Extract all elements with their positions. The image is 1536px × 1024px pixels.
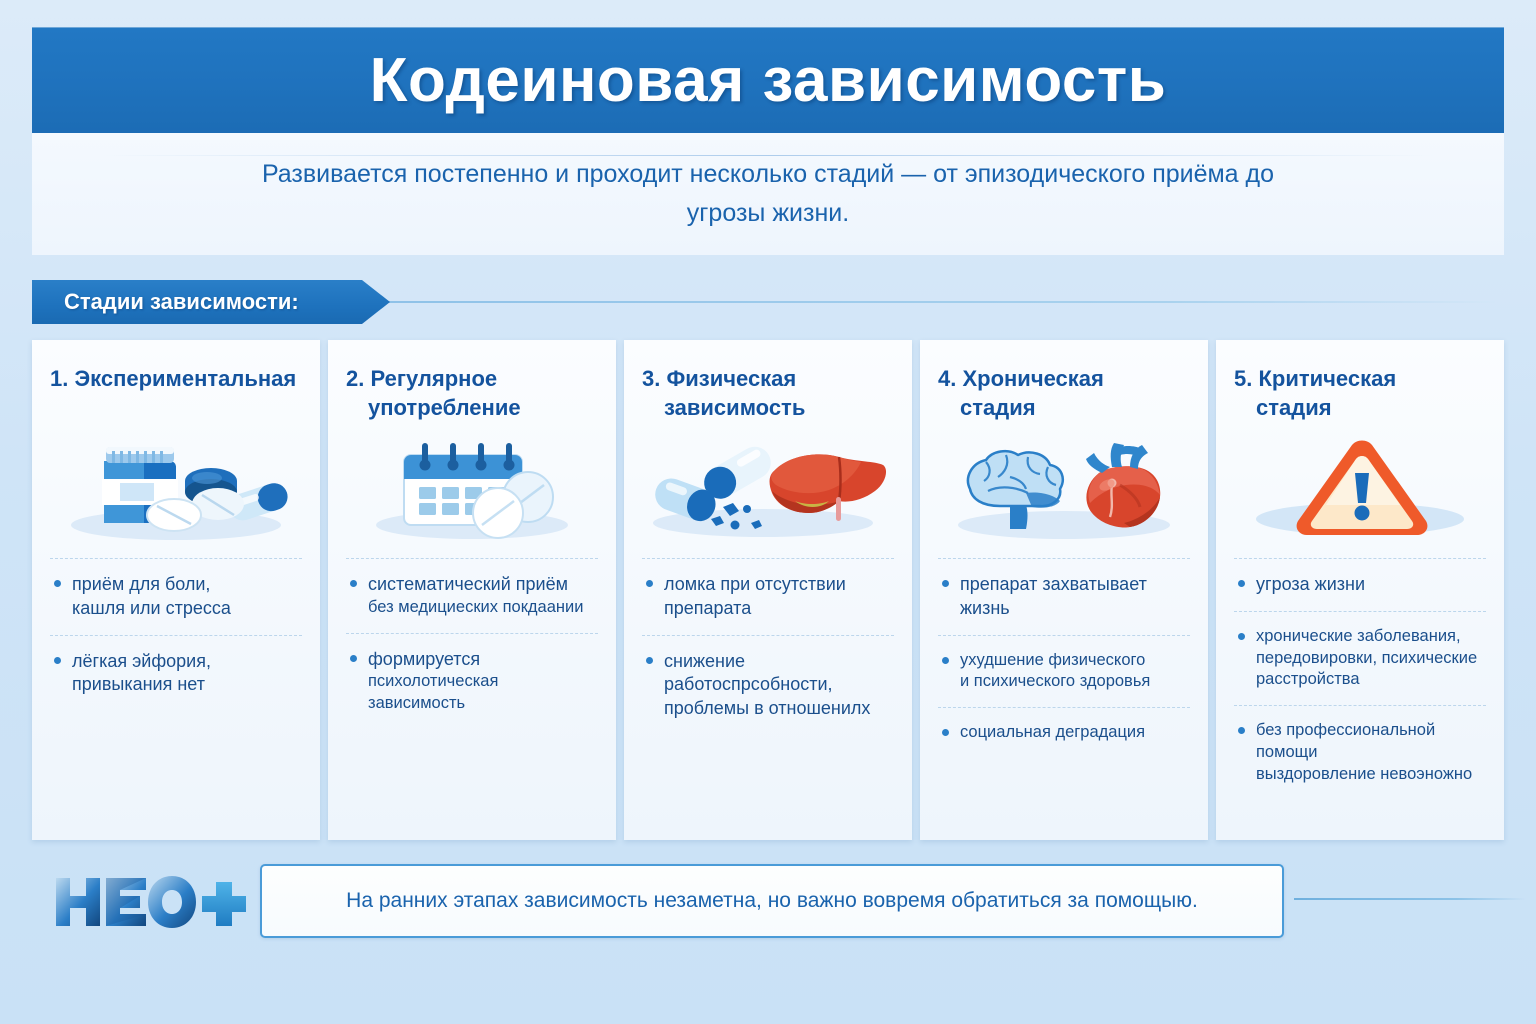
footer: На ранних этапах зависимость незаметна, … (32, 852, 1504, 960)
bullet-item: угроза жизни (1234, 558, 1486, 611)
bullet-sub: жизнь (960, 597, 1188, 621)
page-subtitle: Развивается постепенно и проходит нескол… (228, 155, 1308, 234)
bullet-sub: психолотическая зависимость (368, 671, 596, 715)
stage-card-5-bullets: угроза жизни хронические заболевания, пе… (1234, 558, 1486, 799)
stage-card-5-title: 5. Критическая стадия (1234, 364, 1486, 426)
footer-note-text: На ранних этапах зависимость незаметна, … (324, 889, 1220, 913)
bullet-main: приём для боли, (72, 573, 300, 597)
stage-card-3-bullets: ломка при отсутствии препарата снижение … (642, 558, 894, 735)
title-bar: Кодеиновая зависимость (32, 27, 1504, 133)
stage-card-3-title-line2: зависимость (642, 393, 894, 422)
bullet-item: лёгкая эйфория, привыкания нет (50, 635, 302, 712)
pill-bottle-icon (50, 432, 302, 544)
bullet-sub: без медициеских покдаании (368, 597, 596, 619)
stage-card-4-title: 4. Хроническая стадия (938, 364, 1190, 426)
stage-card-4-title-line2: стадия (938, 393, 1190, 422)
stage-card-3[interactable]: 3. Физическая зависимость (624, 340, 912, 840)
stage-card-4[interactable]: 4. Хроническая стадия (920, 340, 1208, 840)
stage-card-1[interactable]: 1. Экспериментальная (32, 340, 320, 840)
bullet-sub: кашля или стресса (72, 597, 300, 621)
stage-card-2-title: 2. Регулярное употребление (346, 364, 598, 426)
stage-card-5-title-line1: 5. Критическая (1234, 366, 1396, 391)
subtitle-panel: Развивается постепенно и проходит нескол… (32, 133, 1504, 255)
infographic-page: Кодеиновая зависимость Развивается посте… (0, 0, 1536, 1024)
stage-card-2[interactable]: 2. Регулярное употребление (328, 340, 616, 840)
stage-card-4-title-line1: 4. Хроническая (938, 366, 1104, 391)
bullet-main: угроза жизни (1256, 573, 1484, 597)
bullet-sub: передовировки, психические расстройства (1256, 648, 1484, 692)
bullet-sub: работоспрсобности, проблемы в отношенилх (664, 673, 892, 721)
section-banner-chevron: Стадии зависимости: (32, 280, 390, 324)
stage-card-2-title-line2: употребление (346, 393, 598, 422)
stage-card-4-bullets: препарат захватывает жизнь ухудшение физ… (938, 558, 1190, 758)
footer-note-box: На ранних этапах зависимость незаметна, … (260, 864, 1284, 938)
stage-card-5[interactable]: 5. Критическая стадия угроза жизни (1216, 340, 1504, 840)
bullet-main: ухудшение физического (960, 650, 1188, 672)
bullet-main: хронические заболевания, (1256, 626, 1484, 648)
capsule-liver-icon (642, 432, 894, 544)
stage-card-1-title-line1: 1. Экспериментальная (50, 366, 296, 391)
stage-card-2-bullets: систематический приём без медициеских по… (346, 558, 598, 729)
stage-cards: 1. Экспериментальная (32, 340, 1504, 840)
calendar-pills-icon (346, 432, 598, 544)
neo-plus-logo[interactable] (50, 870, 250, 932)
bullet-main: лёгкая эйфория, (72, 650, 300, 674)
section-banner-label: Стадии зависимости: (32, 289, 299, 315)
bullet-main: социальная деградация (960, 722, 1188, 744)
bullet-main: формируется (368, 648, 596, 672)
bullet-main: ломка при отсутствии (664, 573, 892, 597)
bullet-sub: и психического здоровья (960, 671, 1188, 693)
bullet-item: систематический приём без медициеских по… (346, 558, 598, 633)
bullet-sub: привыкания нет (72, 673, 300, 697)
stage-card-1-bullets: приём для боли, кашля или стресса лёгкая… (50, 558, 302, 711)
bullet-item: снижение работоспрсобности, проблемы в о… (642, 635, 894, 735)
bullet-item: формируется психолотическая зависимость (346, 633, 598, 729)
bullet-item: ухудшение физического и психического здо… (938, 635, 1190, 708)
brain-heart-icon (938, 432, 1190, 544)
page-title: Кодеиновая зависимость (370, 45, 1167, 116)
footer-rule (1294, 898, 1526, 900)
bullet-main: систематический приём (368, 573, 596, 597)
bullet-item: без профессиональной помощи выздоровлени… (1234, 705, 1486, 799)
bullet-item: ломка при отсутствии препарата (642, 558, 894, 635)
section-banner: Стадии зависимости: (32, 280, 1504, 324)
banner-rule (387, 301, 1496, 303)
bullet-item: хронические заболевания, передовировки, … (1234, 611, 1486, 705)
stage-card-2-title-line1: 2. Регулярное (346, 366, 497, 391)
bullet-main: без профессиональной помощи (1256, 720, 1484, 764)
stage-card-3-title-line1: 3. Физическая (642, 366, 796, 391)
bullet-main: препарат захватывает (960, 573, 1188, 597)
warning-triangle-icon (1234, 432, 1486, 544)
bullet-sub: выздоровление невоэножно (1256, 764, 1484, 786)
stage-card-5-title-line2: стадия (1234, 393, 1486, 422)
stage-card-1-title: 1. Экспериментальная (50, 364, 302, 426)
bullet-item: препарат захватывает жизнь (938, 558, 1190, 635)
bullet-main: снижение (664, 650, 892, 674)
stage-card-3-title: 3. Физическая зависимость (642, 364, 894, 426)
bullet-item: приём для боли, кашля или стресса (50, 558, 302, 635)
bullet-sub: препарата (664, 597, 892, 621)
bullet-item: социальная деградация (938, 707, 1190, 758)
